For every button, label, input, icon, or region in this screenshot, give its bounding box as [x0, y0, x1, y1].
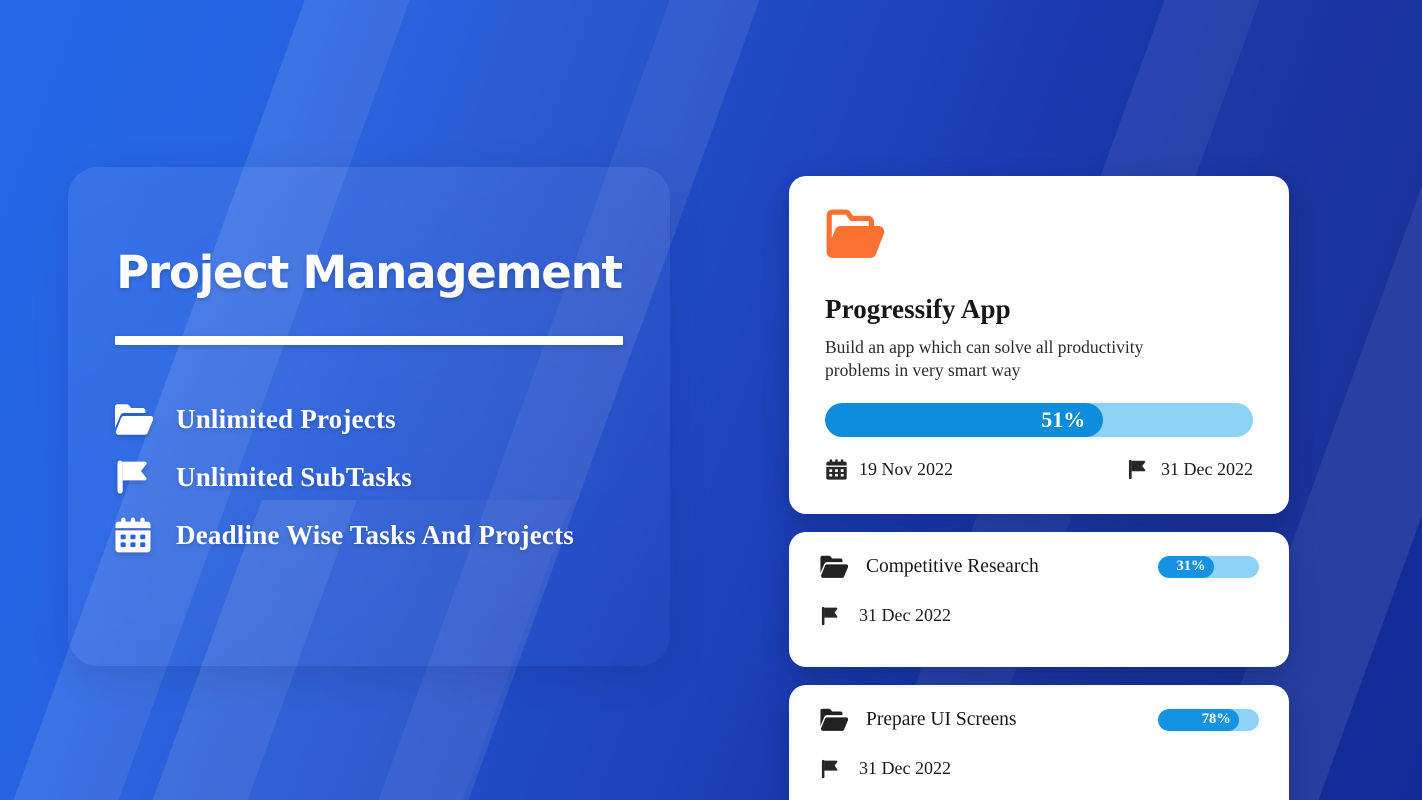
project-card-competitive-research[interactable]: Competitive Research 31% 31 Dec 2022 — [789, 532, 1289, 667]
calendar-icon — [112, 515, 154, 555]
progress-bar[interactable]: 31% — [1158, 556, 1259, 578]
feature-item-unlimited-subtasks: Unlimited SubTasks — [112, 448, 670, 506]
project-card-header: Competitive Research 31% — [819, 554, 1259, 579]
progress-bar-fill: 78% — [1158, 709, 1239, 731]
start-date-text: 19 Nov 2022 — [859, 459, 953, 480]
project-description: Build an app which can solve all product… — [825, 336, 1210, 383]
folder-open-icon — [819, 707, 848, 732]
title-divider — [115, 336, 623, 345]
folder-open-icon — [819, 554, 848, 579]
folder-open-icon — [825, 247, 885, 264]
flag-icon — [819, 759, 841, 779]
flag-icon — [819, 606, 841, 626]
project-name: Prepare UI Screens — [866, 709, 1017, 731]
page-title: Project Management — [68, 227, 670, 296]
due-date: 31 Dec 2022 — [819, 758, 1259, 779]
project-card-prepare-ui-screens[interactable]: Prepare UI Screens 78% 31 Dec 2022 — [789, 685, 1289, 800]
due-date: 31 Dec 2022 — [1127, 459, 1253, 481]
promo-card: Project Management Unlimited Projects Un… — [68, 167, 670, 666]
due-date-text: 31 Dec 2022 — [1161, 459, 1253, 480]
due-date-text: 31 Dec 2022 — [859, 605, 951, 626]
project-name-group: Competitive Research — [819, 554, 1039, 579]
feature-label: Deadline Wise Tasks And Projects — [176, 520, 574, 551]
project-card-header: Prepare UI Screens 78% — [819, 707, 1259, 732]
folder-open-icon — [112, 399, 154, 439]
flag-icon — [112, 457, 154, 497]
project-dates: 19 Nov 2022 31 Dec 2022 — [825, 459, 1253, 481]
due-date-text: 31 Dec 2022 — [859, 758, 951, 779]
progress-bar-fill: 51% — [825, 403, 1103, 437]
progress-bar[interactable]: 78% — [1158, 709, 1259, 731]
project-name: Competitive Research — [866, 556, 1039, 578]
project-title: Progressify App — [825, 294, 1253, 325]
feature-list: Unlimited Projects Unlimited SubTasks — [112, 390, 670, 564]
flag-icon — [1127, 459, 1149, 481]
featured-project-card[interactable]: Progressify App Build an app which can s… — [789, 176, 1289, 514]
project-list: Progressify App Build an app which can s… — [789, 176, 1289, 800]
feature-label: Unlimited Projects — [176, 404, 396, 435]
progress-value: 51% — [1041, 407, 1103, 433]
feature-item-unlimited-projects: Unlimited Projects — [112, 390, 670, 448]
progress-bar[interactable]: 51% — [825, 403, 1253, 437]
due-date: 31 Dec 2022 — [819, 605, 1259, 626]
feature-item-deadline-wise: Deadline Wise Tasks And Projects — [112, 506, 670, 564]
progress-bar-fill: 31% — [1158, 556, 1214, 578]
progress-value: 78% — [1202, 711, 1239, 728]
progress-value: 31% — [1177, 558, 1214, 575]
calendar-icon — [825, 459, 847, 481]
project-name-group: Prepare UI Screens — [819, 707, 1017, 732]
feature-label: Unlimited SubTasks — [176, 462, 412, 493]
start-date: 19 Nov 2022 — [825, 459, 953, 481]
